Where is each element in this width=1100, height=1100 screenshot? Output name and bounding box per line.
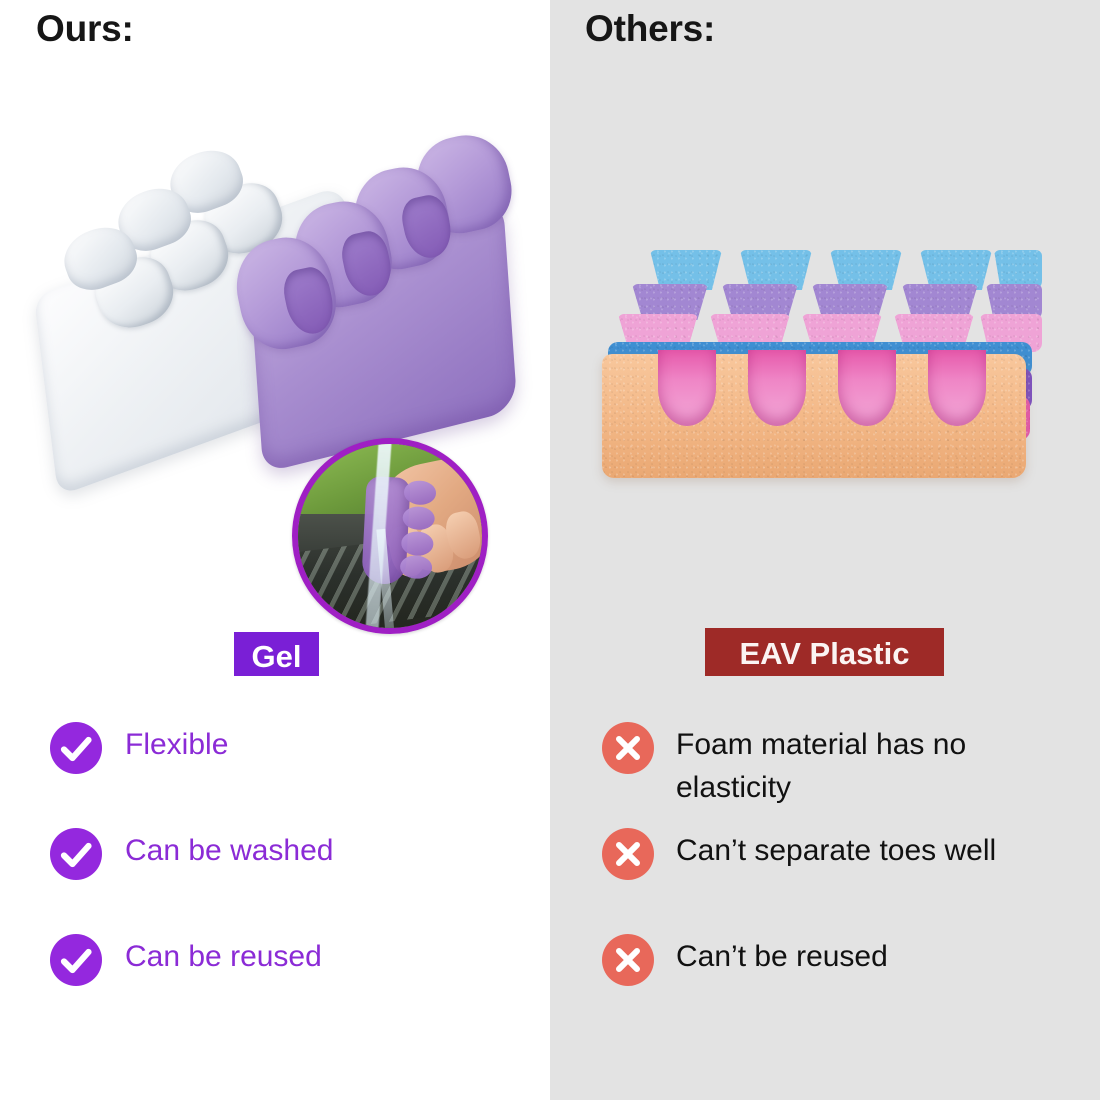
- check-circle-icon: [50, 722, 102, 774]
- foam-notch: [748, 350, 806, 426]
- list-item-label: Can’t separate toes well: [676, 830, 996, 873]
- others-title: Others:: [585, 8, 715, 50]
- washing-inset-photo: [292, 438, 488, 634]
- foam-notch: [838, 350, 896, 426]
- panel-ours: Ours:: [0, 0, 550, 1100]
- material-badge-eav: EAV Plastic: [705, 628, 944, 676]
- material-badge-gel: Gel: [234, 632, 319, 676]
- foam-stack: [592, 250, 1042, 480]
- comparison-infographic: Ours:: [0, 0, 1100, 1100]
- foam-notch: [928, 350, 986, 426]
- foam-notch: [658, 350, 716, 426]
- list-item: Can’t be reused: [602, 936, 1072, 986]
- foam-separators-image: [550, 90, 1100, 580]
- check-circle-icon: [50, 934, 102, 986]
- list-item-label: Can be reused: [125, 936, 322, 979]
- list-item-label: Foam material has no elasticity: [676, 724, 1072, 809]
- gel-separators-image: [0, 90, 550, 580]
- list-item: Foam material has no elasticity: [602, 724, 1072, 809]
- list-item: Can be washed: [50, 830, 333, 880]
- cross-circle-icon: [602, 934, 654, 986]
- panel-others: Others:: [550, 0, 1100, 1100]
- list-item-label: Flexible: [125, 724, 228, 767]
- list-item: Can’t separate toes well: [602, 830, 1072, 880]
- cross-circle-icon: [602, 828, 654, 880]
- list-item-label: Can be washed: [125, 830, 333, 873]
- list-item: Flexible: [50, 724, 228, 774]
- list-item: Can be reused: [50, 936, 322, 986]
- cross-circle-icon: [602, 722, 654, 774]
- ours-title: Ours:: [36, 8, 134, 50]
- list-item-label: Can’t be reused: [676, 936, 888, 979]
- check-circle-icon: [50, 828, 102, 880]
